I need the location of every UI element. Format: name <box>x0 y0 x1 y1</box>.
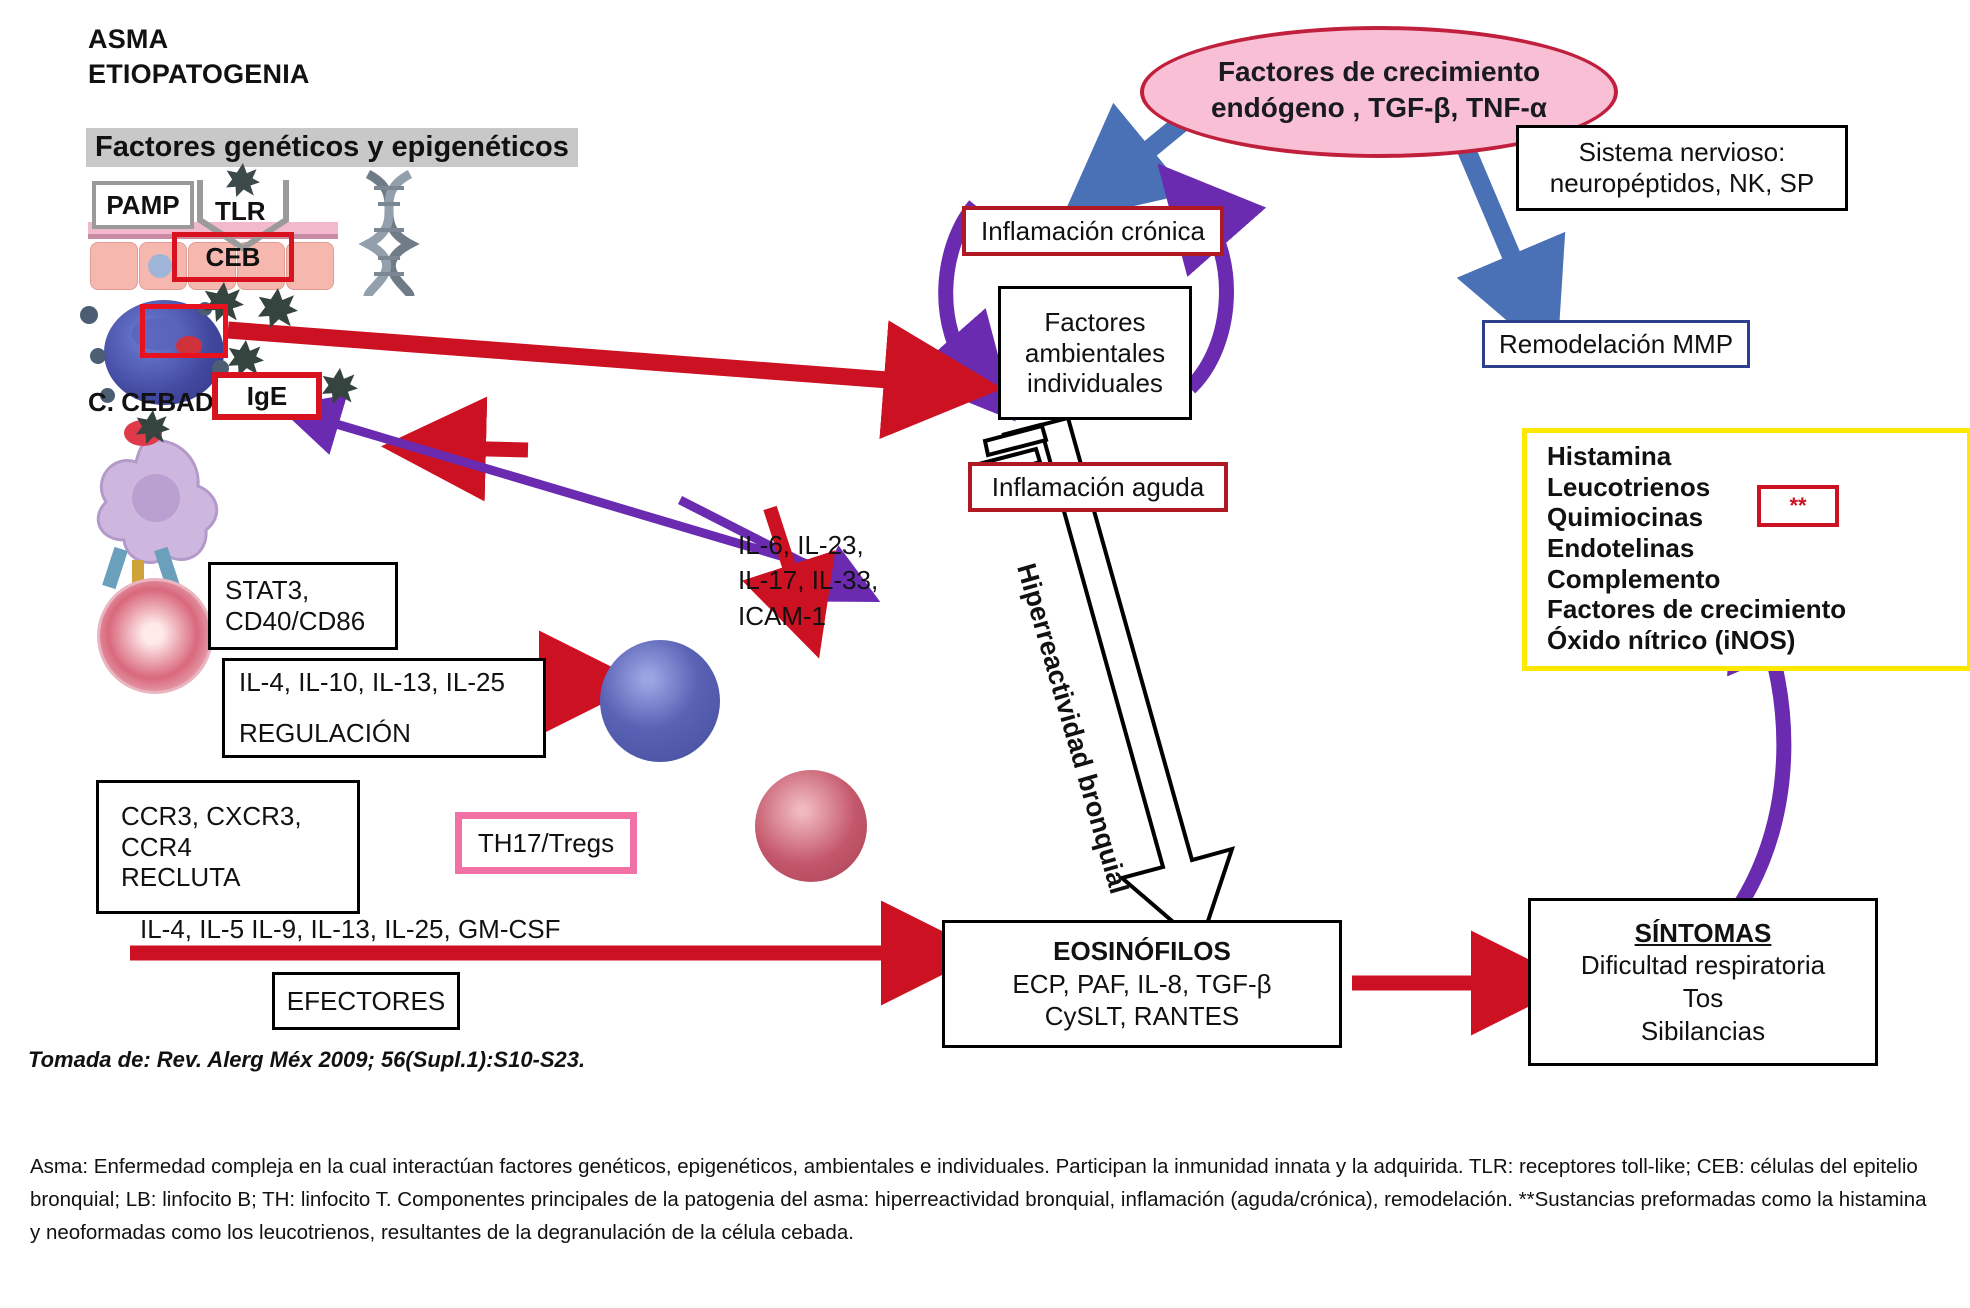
eosinophils-line-2: ECP, PAF, IL-8, TGF-β <box>1012 968 1271 1001</box>
th17-label: TH17/Tregs <box>478 828 614 859</box>
effectors-label: EFECTORES <box>287 986 445 1017</box>
t-lymphocyte-icon <box>97 578 213 694</box>
symptoms-line-2: Tos <box>1581 982 1825 1015</box>
cytokines-line-1: IL-6, IL-23, <box>738 528 878 563</box>
mediator-item: Complemento <box>1547 564 1967 595</box>
mast-cell-label: C. CEBADA <box>88 387 232 418</box>
eosinophil-cell-icon <box>755 770 867 882</box>
nervous-system-box: Sistema nervioso: neuropéptidos, NK, SP <box>1516 125 1848 211</box>
acute-inflammation-box: Inflamación aguda <box>968 462 1228 512</box>
nervous-line-2: neuropéptidos, NK, SP <box>1550 168 1815 199</box>
recruit-line-2: CCR4 <box>121 832 302 863</box>
growth-factors-line-1: Factores de crecimiento <box>1144 54 1614 90</box>
pamp-box: PAMP <box>92 181 194 229</box>
arrow-cytokines-to-ige-short <box>447 448 528 450</box>
cytokines-list: IL-6, IL-23, IL-17, IL-33, ICAM-1 <box>738 528 878 634</box>
asterisk-label: ** <box>1789 493 1806 519</box>
environmental-line-1: Factores <box>1025 307 1165 338</box>
stat3-box: STAT3, CD40/CD86 <box>208 562 398 650</box>
figure-caption: Asma: Enfermedad compleja en la cual int… <box>30 1150 1940 1250</box>
recruitment-box: CCR3, CXCR3, CCR4 RECLUTA <box>96 780 360 914</box>
mediator-item: Óxido nítrico (iNOS) <box>1547 625 1967 656</box>
stat3-line-1: STAT3, <box>225 575 365 606</box>
nervous-line-1: Sistema nervioso: <box>1550 137 1815 168</box>
symptoms-line-3: Sibilancias <box>1581 1015 1825 1048</box>
mediator-item: Endotelinas <box>1547 533 1967 564</box>
recruit-line-3: RECLUTA <box>121 862 302 893</box>
effectors-box: EFECTORES <box>272 972 460 1030</box>
arrow-mastcell-to-acute-inflammation <box>228 330 928 383</box>
mediators-box: Histamina Leucotrienos Quimiocinas Endot… <box>1522 428 1970 671</box>
regulation-label: REGULACIÓN <box>239 718 543 749</box>
symptoms-box: SÍNTOMAS Dificultad respiratoria Tos Sib… <box>1528 898 1878 1066</box>
growth-factors-line-2: endógeno , TGF-β, TNF-α <box>1144 90 1614 126</box>
mediator-item: Factores de crecimiento <box>1547 594 1967 625</box>
ige-box: IgE <box>212 372 322 420</box>
stat3-line-2: CD40/CD86 <box>225 606 365 637</box>
chronic-inflammation-box: Inflamación crónica <box>962 206 1224 256</box>
regulation-cytokines: IL-4, IL-10, IL-13, IL-25 <box>239 667 543 698</box>
th17-tregs-box: TH17/Tregs <box>455 812 637 874</box>
remodeling-box: Remodelación MMP <box>1482 320 1750 368</box>
mast-cell-highlight-rect <box>140 304 228 358</box>
ceb-label: CEB <box>206 242 261 273</box>
pamp-label: PAMP <box>106 190 179 221</box>
dna-helix-icon <box>352 170 422 300</box>
symptoms-title: SÍNTOMAS <box>1581 917 1825 950</box>
source-citation: Tomada de: Rev. Alerg Méx 2009; 56(Supl.… <box>28 1047 585 1073</box>
title-line-2: ETIOPATOGENIA <box>88 57 310 92</box>
asterisk-note-box: ** <box>1757 485 1839 527</box>
effectors-cytokines: IL-4, IL-5 IL-9, IL-13, IL-25, GM-CSF <box>140 914 560 945</box>
eosinophils-box: EOSINÓFILOS ECP, PAF, IL-8, TGF-β CySLT,… <box>942 920 1342 1048</box>
regulation-box: IL-4, IL-10, IL-13, IL-25 REGULACIÓN <box>222 658 546 758</box>
dendritic-cell-icon <box>78 418 228 568</box>
chronic-inflammation-label: Inflamación crónica <box>981 216 1205 247</box>
tlr-label: TLR <box>215 196 266 227</box>
recruit-line-1: CCR3, CXCR3, <box>121 801 302 832</box>
mediator-item: Histamina <box>1547 441 1967 472</box>
environmental-line-2: ambientales <box>1025 338 1165 369</box>
ceb-box: CEB <box>172 232 294 282</box>
acute-inflammation-label: Inflamación aguda <box>992 472 1204 503</box>
page-title: ASMA ETIOPATOGENIA <box>88 22 310 92</box>
title-line-1: ASMA <box>88 22 310 57</box>
environmental-line-3: individuales <box>1025 368 1165 399</box>
eosinophils-line-3: CySLT, RANTES <box>1012 1000 1271 1033</box>
arrow-growthfactors-to-chronic <box>1117 120 1185 176</box>
symptoms-line-1: Dificultad respiratoria <box>1581 949 1825 982</box>
ige-label: IgE <box>247 381 287 412</box>
genetics-banner: Factores genéticos y epigenéticos <box>86 128 578 167</box>
b-lymphocyte-icon <box>600 640 720 762</box>
cytokines-line-3: ICAM-1 <box>738 599 878 634</box>
remodeling-label: Remodelación MMP <box>1499 329 1733 360</box>
environmental-factors-box: Factores ambientales individuales <box>998 286 1192 420</box>
cytokines-line-2: IL-17, IL-33, <box>738 563 878 598</box>
eosinophils-title: EOSINÓFILOS <box>1012 935 1271 968</box>
